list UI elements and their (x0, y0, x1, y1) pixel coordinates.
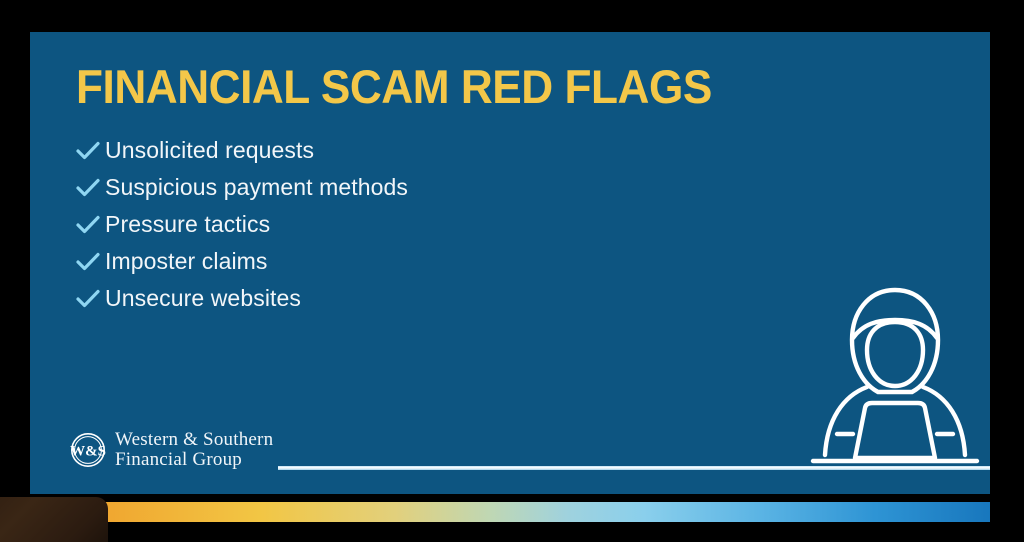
ws-emblem-icon: W&S (70, 432, 106, 468)
list-item-label: Suspicious payment methods (105, 174, 408, 201)
hooded-figure-laptop-icon (805, 280, 985, 475)
page-title: FINANCIAL SCAM RED FLAGS (76, 63, 712, 110)
check-icon (75, 176, 105, 200)
list-item: Suspicious payment methods (75, 169, 595, 206)
brand-logo-text: Western & Southern Financial Group (115, 430, 273, 470)
list-item-label: Imposter claims (105, 248, 268, 275)
list-item: Unsecure websites (75, 280, 595, 317)
list-item: Imposter claims (75, 243, 595, 280)
gradient-bar (30, 502, 990, 522)
footer-divider (278, 466, 990, 470)
check-icon (75, 250, 105, 274)
check-icon (75, 139, 105, 163)
list-item-label: Unsolicited requests (105, 137, 314, 164)
slide-panel: FINANCIAL SCAM RED FLAGS Unsolicited req… (30, 32, 990, 494)
svg-text:W&S: W&S (70, 444, 106, 460)
brand-line-1: Western & Southern (115, 430, 273, 450)
corner-overlay (0, 497, 108, 542)
brand-logo: W&S Western & Southern Financial Group (70, 430, 273, 470)
list-item-label: Unsecure websites (105, 285, 301, 312)
list-item: Pressure tactics (75, 206, 595, 243)
brand-line-2: Financial Group (115, 450, 273, 470)
list-item-label: Pressure tactics (105, 211, 270, 238)
slide-canvas: FINANCIAL SCAM RED FLAGS Unsolicited req… (0, 0, 1024, 542)
check-icon (75, 213, 105, 237)
red-flags-list: Unsolicited requests Suspicious payment … (75, 132, 595, 317)
check-icon (75, 287, 105, 311)
list-item: Unsolicited requests (75, 132, 595, 169)
